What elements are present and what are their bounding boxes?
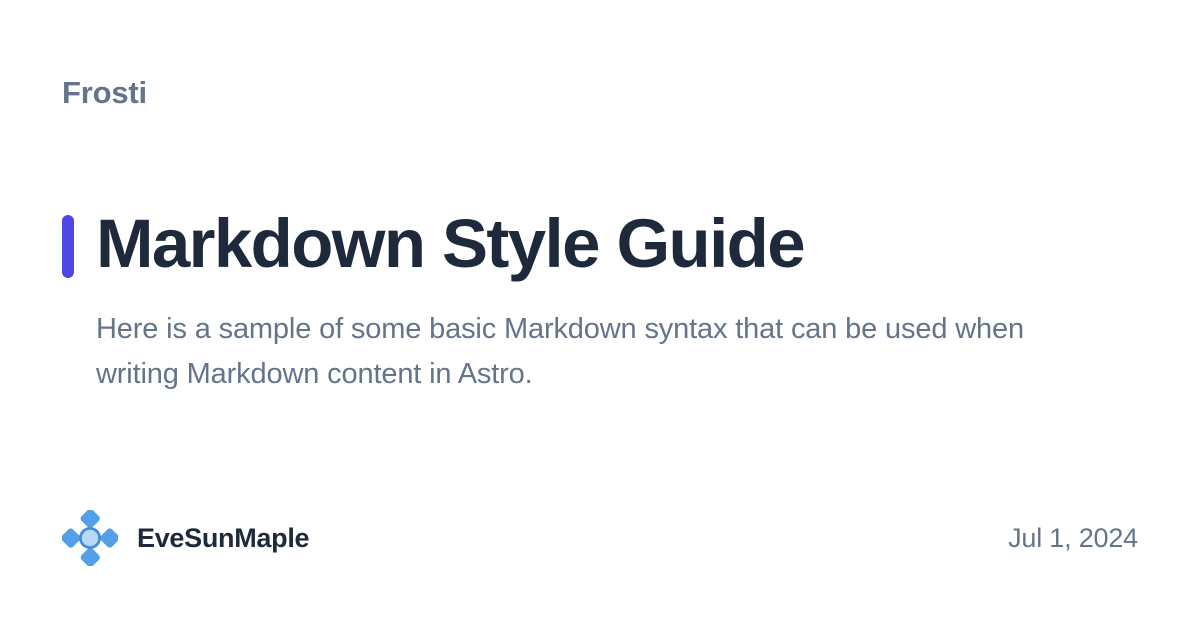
author-group: EveSunMaple — [62, 510, 309, 566]
post-title-row: Markdown Style Guide — [62, 207, 1138, 282]
card-footer: EveSunMaple Jul 1, 2024 — [62, 508, 1138, 568]
four-petal-diamond-logo-icon — [62, 510, 118, 566]
author-name: EveSunMaple — [137, 523, 309, 554]
post-date: Jul 1, 2024 — [1008, 523, 1138, 554]
post-description: Here is a sample of some basic Markdown … — [96, 307, 1106, 397]
og-preview-card: Frosti Markdown Style Guide Here is a sa… — [0, 0, 1200, 630]
post-content: Markdown Style Guide Here is a sample of… — [62, 122, 1138, 508]
page-title: Markdown Style Guide — [96, 207, 804, 282]
brand-row: Frosti — [62, 62, 1138, 122]
site-brand-name: Frosti — [62, 77, 147, 108]
accent-bar-icon — [62, 215, 74, 278]
